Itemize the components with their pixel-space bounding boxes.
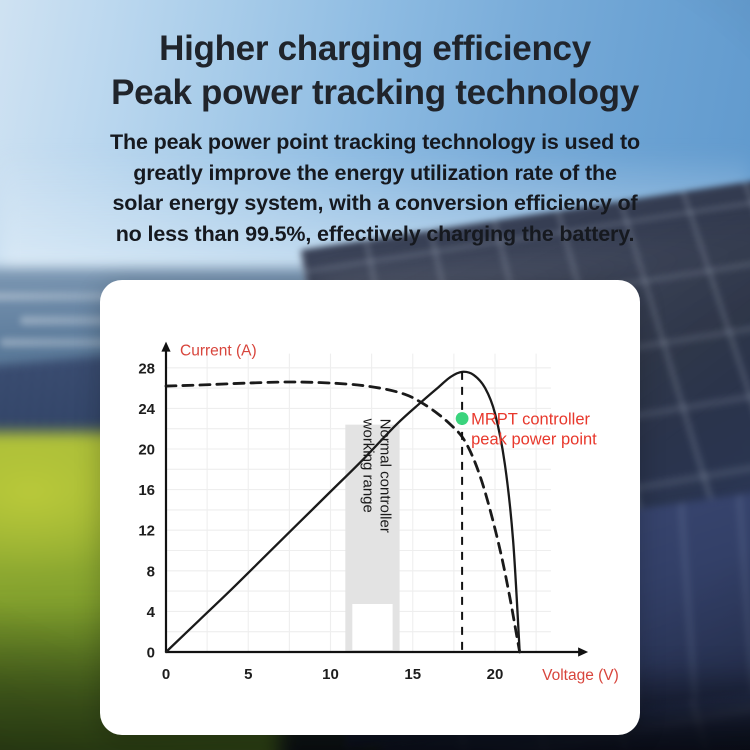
text-block: Higher charging efficiency Peak power tr… — [0, 0, 750, 249]
body-line-2: greatly improve the energy utilization r… — [58, 158, 692, 189]
y-axis-title: Current (A) — [180, 343, 257, 360]
series-power-curve — [166, 372, 520, 652]
body-line-1: The peak power point tracking technology… — [58, 127, 692, 158]
y-tick-label: 0 — [147, 645, 155, 662]
x-tick-label: 0 — [162, 666, 170, 683]
band-inset — [352, 604, 392, 650]
y-tick-label: 12 — [138, 523, 155, 540]
body-line-3: solar energy system, with a conversion e… — [58, 188, 692, 219]
headline-line-2: Peak power tracking technology — [22, 71, 728, 115]
y-tick-label: 4 — [147, 604, 156, 621]
y-tick-label: 16 — [138, 482, 155, 499]
y-tick-label: 20 — [138, 442, 155, 459]
band-label-line-2: working range — [359, 418, 376, 513]
y-axis-arrow — [161, 342, 170, 352]
x-axis-title: Voltage (V) — [542, 667, 619, 684]
x-tick-label: 10 — [322, 666, 339, 683]
x-axis-arrow — [578, 647, 588, 656]
y-tick-label: 8 — [147, 563, 155, 580]
y-tick-label: 24 — [138, 401, 155, 418]
x-tick-label: 5 — [244, 666, 252, 683]
annotation-line-1: MRPT controller — [471, 411, 590, 429]
x-tick-label: 15 — [404, 666, 421, 683]
chart-card: Normal controllerworking range0481216202… — [100, 280, 640, 735]
annotation-line-2: peak power point — [471, 431, 597, 449]
iv-power-chart: Normal controllerworking range0481216202… — [100, 280, 640, 735]
x-tick-label: 20 — [487, 666, 504, 683]
headline: Higher charging efficiency Peak power tr… — [22, 27, 728, 115]
body-line-4: no less than 99.5%, effectively charging… — [58, 219, 692, 250]
peak-power-point-marker — [456, 412, 469, 425]
body-copy: The peak power point tracking technology… — [22, 127, 728, 249]
y-tick-label: 28 — [138, 360, 155, 377]
headline-line-1: Higher charging efficiency — [22, 27, 728, 71]
